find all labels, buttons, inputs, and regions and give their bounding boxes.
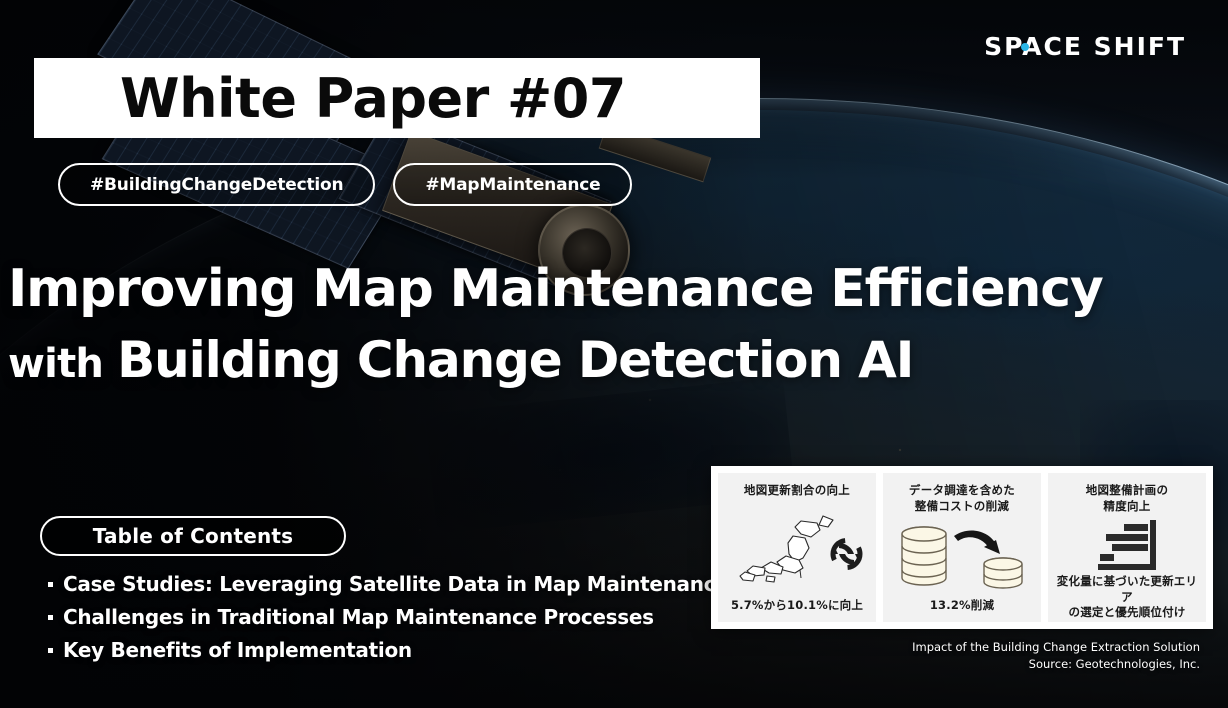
list-item-label: Challenges in Traditional Map Maintenanc… xyxy=(63,605,654,629)
bullet-icon xyxy=(48,582,53,587)
hashtag-row: #BuildingChangeDetection #MapMaintenance xyxy=(58,163,632,206)
panel-footer-line-2: の選定と優先順位付け xyxy=(1054,605,1200,621)
infographic-panel-map-update-rate: 地図更新割合の向上 xyxy=(718,473,876,622)
title-line-2: with Building Change Detection AI xyxy=(8,331,1223,389)
white-paper-cover-slide: SPACE SHIFT White Paper #07 #BuildingCha… xyxy=(0,0,1228,708)
panel-title-line-2: 整備コストの削減 xyxy=(909,499,1015,515)
curved-arrow-icon xyxy=(954,531,1000,555)
satellite-illustration xyxy=(60,0,720,290)
page-title: Improving Map Maintenance Efficiency wit… xyxy=(8,262,1223,389)
panel-footer: 5.7%から10.1%に向上 xyxy=(731,598,863,614)
list-item[interactable]: Key Benefits of Implementation xyxy=(48,638,729,662)
table-of-contents-list: Case Studies: Leveraging Satellite Data … xyxy=(48,572,729,671)
panel-title-line-1: データ調達を含めた xyxy=(909,483,1015,499)
panel-footer-line-1: 変化量に基づいた更新エリア xyxy=(1054,574,1200,605)
panel-title-line-1: 地図整備計画の xyxy=(1086,483,1169,499)
list-item-label: Case Studies: Leveraging Satellite Data … xyxy=(63,572,729,596)
panel-title: 地図整備計画の 精度向上 xyxy=(1086,483,1169,514)
tag-building-change-detection[interactable]: #BuildingChangeDetection xyxy=(58,163,375,206)
infographic-panel-plan-accuracy: 地図整備計画の 精度向上 変化量に基づいた更新エリア の選定 xyxy=(1048,473,1206,622)
space-shift-logo[interactable]: SPACE SHIFT xyxy=(984,32,1186,61)
white-paper-banner: White Paper #07 xyxy=(34,58,760,138)
title-line-1: Improving Map Maintenance Efficiency xyxy=(8,262,1223,317)
bullet-icon xyxy=(48,648,53,653)
bar-chart-svg xyxy=(1090,514,1164,574)
panel-title: データ調達を含めた 整備コストの削減 xyxy=(909,483,1015,514)
list-item[interactable]: Case Studies: Leveraging Satellite Data … xyxy=(48,572,729,596)
japan-map-refresh-svg xyxy=(731,510,863,588)
database-reduction-svg xyxy=(892,520,1032,592)
list-item[interactable]: Challenges in Traditional Map Maintenanc… xyxy=(48,605,729,629)
title-line-2-main: Building Change Detection AI xyxy=(117,331,913,389)
infographic-panel-cost-reduction: データ調達を含めた 整備コストの削減 xyxy=(883,473,1041,622)
panel-title: 地図更新割合の向上 xyxy=(744,483,850,499)
infographic-caption: Impact of the Building Change Extraction… xyxy=(912,639,1200,672)
tag-map-maintenance[interactable]: #MapMaintenance xyxy=(393,163,632,206)
caption-line-1: Impact of the Building Change Extraction… xyxy=(912,639,1200,656)
infographic-card: 地図更新割合の向上 xyxy=(711,466,1213,629)
white-paper-number-label: White Paper #07 xyxy=(34,67,626,130)
list-item-label: Key Benefits of Implementation xyxy=(63,638,412,662)
panel-footer: 13.2%削減 xyxy=(930,598,994,614)
title-line-2-prefix: with xyxy=(8,341,103,387)
panel-footer: 変化量に基づいた更新エリア の選定と優先順位付け xyxy=(1054,574,1200,621)
database-reduction-arrow-icon xyxy=(889,514,1035,598)
caption-line-2: Source: Geotechnologies, Inc. xyxy=(912,656,1200,673)
bar-chart-icon xyxy=(1054,514,1200,574)
logo-wordmark: SPACE SHIFT xyxy=(984,32,1186,61)
bullet-icon xyxy=(48,615,53,620)
panel-title-line-2: 精度向上 xyxy=(1086,499,1169,515)
japan-map-refresh-icon xyxy=(724,499,870,599)
refresh-arrows xyxy=(832,540,861,567)
table-of-contents-heading: Table of Contents xyxy=(40,516,346,556)
